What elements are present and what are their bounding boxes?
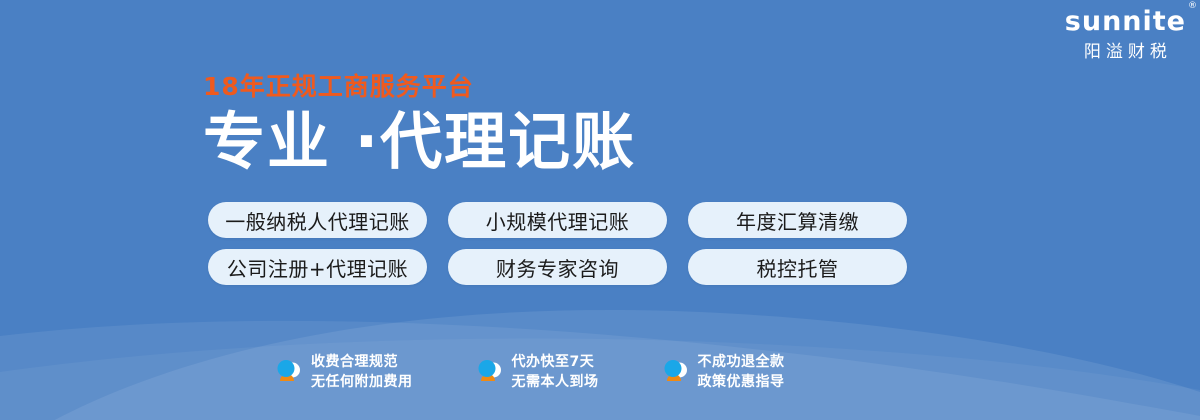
service-pill-grid: 一般纳税人代理记账 小规模代理记账 年度汇算清缴 公司注册+代理记账 财务专家咨…	[208, 202, 907, 285]
feature-line-2: 政策优惠指导	[698, 372, 785, 392]
feature-text: 代办快至7天 无需本人到场	[512, 352, 599, 393]
logo-wordmark: sunnite ®	[1065, 8, 1186, 35]
two-tone-circle-icon	[274, 357, 302, 387]
promo-banner: sunnite ® 阳溢财税 18年正规工商服务平台 专业 ·代理记账 一般纳税…	[0, 0, 1200, 420]
feature-line-1: 代办快至7天	[512, 352, 599, 372]
page-title: 专业 ·代理记账	[203, 111, 636, 173]
feature-line-1: 不成功退全款	[698, 352, 785, 372]
feature-text: 收费合理规范 无任何附加费用	[311, 352, 413, 393]
feature-line-2: 无需本人到场	[512, 372, 599, 392]
feature-line-1: 收费合理规范	[311, 352, 413, 372]
service-pill-company-registration-bookkeeping[interactable]: 公司注册+代理记账	[208, 249, 427, 285]
feature-text: 不成功退全款 政策优惠指导	[698, 352, 785, 393]
tagline: 18年正规工商服务平台	[203, 74, 636, 99]
service-pill-annual-settlement[interactable]: 年度汇算清缴	[688, 202, 907, 238]
logo-chinese-name: 阳溢财税	[1065, 44, 1186, 61]
service-pill-general-taxpayer-bookkeeping[interactable]: 一般纳税人代理记账	[208, 202, 427, 238]
registered-trademark-icon: ®	[1188, 2, 1198, 11]
feature-item-pricing: 收费合理规范 无任何附加费用	[274, 352, 413, 393]
feature-item-guarantee: 不成功退全款 政策优惠指导	[661, 352, 785, 393]
two-tone-circle-icon	[661, 357, 689, 387]
service-pill-tax-control-custody[interactable]: 税控托管	[688, 249, 907, 285]
headline-block: 18年正规工商服务平台 专业 ·代理记账	[203, 74, 636, 173]
brand-logo[interactable]: sunnite ® 阳溢财税	[1065, 8, 1186, 61]
two-tone-circle-icon	[475, 357, 503, 387]
feature-line-2: 无任何附加费用	[311, 372, 413, 392]
service-pill-financial-expert-consulting[interactable]: 财务专家咨询	[448, 249, 667, 285]
logo-wordmark-text: sunnite	[1065, 6, 1186, 37]
feature-list: 收费合理规范 无任何附加费用 代办快至7天 无需本人到场 不成功退全款	[274, 352, 785, 393]
feature-item-speed: 代办快至7天 无需本人到场	[475, 352, 599, 393]
service-pill-small-scale-bookkeeping[interactable]: 小规模代理记账	[448, 202, 667, 238]
